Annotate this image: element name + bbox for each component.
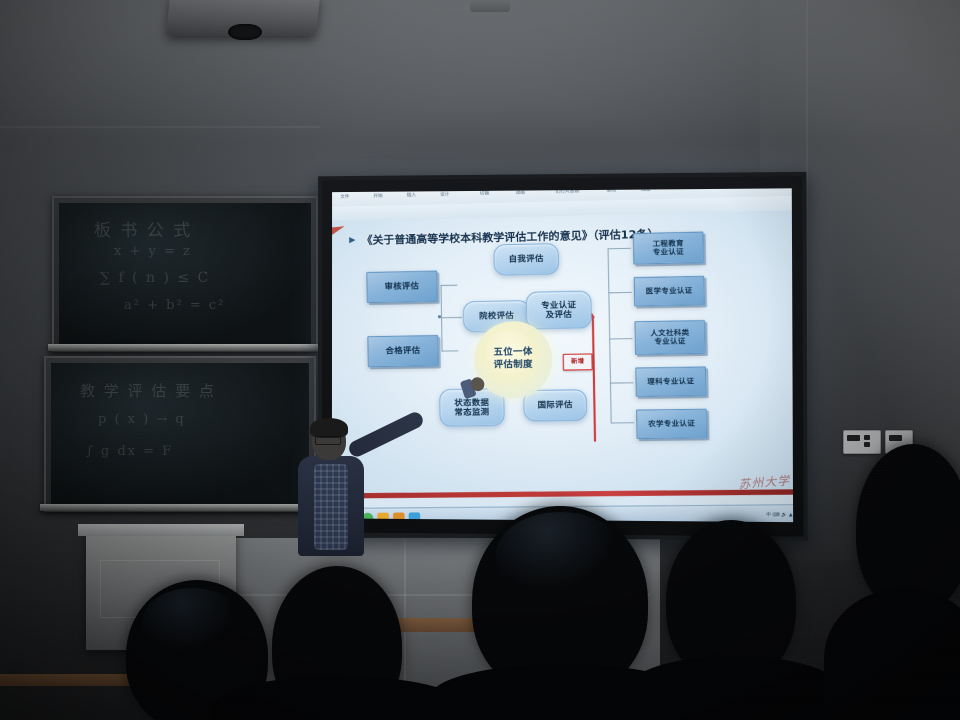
emphasis-line	[592, 318, 596, 442]
connector-line	[441, 317, 462, 319]
decor-triangle-icon	[332, 226, 345, 237]
blackboard-ledge	[48, 344, 320, 351]
node-label: 自我评估	[509, 254, 544, 264]
cert-box-like[interactable]: 理科专业认证	[635, 366, 706, 397]
panel-switch[interactable]	[847, 435, 860, 441]
ribbon-tab[interactable]: 审阅	[606, 188, 616, 193]
node-label: 国际评估	[537, 400, 572, 410]
head-highlight	[496, 512, 624, 598]
connector-line	[610, 382, 633, 384]
cert-label-line1: 理科专业认证	[647, 377, 694, 386]
node-hege-pinggu[interactable]: 合格评估	[367, 335, 438, 367]
wall-control-panel[interactable]	[843, 430, 881, 454]
cert-box-nongxue[interactable]: 农学专业认证	[636, 409, 707, 439]
audience-head	[856, 444, 960, 612]
ribbon-tab[interactable]: 开始	[373, 193, 382, 199]
node-label-line2: 常态监测	[454, 407, 489, 417]
node-label: 审核评估	[385, 282, 420, 292]
ribbon-tab[interactable]: 切换	[480, 190, 490, 196]
node-ziwo-pinggu[interactable]: 自我评估	[493, 243, 559, 276]
node-label-line1: 状态数据	[454, 398, 489, 408]
ribbon-tab[interactable]: 动画	[516, 189, 526, 195]
cert-label-line2: 专业认证	[654, 337, 685, 346]
audience-shoulders	[628, 656, 840, 720]
connector-line	[609, 338, 632, 340]
wall-seam	[0, 126, 320, 128]
ribbon-tab[interactable]: 插入	[407, 192, 416, 198]
blackboard-lower: 教 学 评 估 要 点 p ( x ) → q ∫ g dx = F	[44, 356, 316, 512]
cert-label-line1: 医学专业认证	[646, 286, 693, 295]
presenter	[288, 414, 458, 564]
node-zhuanye-renzheng[interactable]: 专业认证 及评估	[526, 291, 592, 330]
ribbon-tab[interactable]: 幻灯片放映	[556, 188, 580, 195]
panel-switch[interactable]	[889, 435, 902, 441]
new-badge-label: 新增	[571, 358, 585, 365]
connector-line	[608, 248, 612, 422]
presenter-raised-arm	[346, 410, 425, 459]
cert-box-renwenshekelei[interactable]: 人文社科类 专业认证	[634, 320, 705, 355]
system-tray[interactable]: 中 ⌨ 🔊 ▲ 16:42	[766, 512, 793, 519]
lectern-top	[78, 524, 244, 536]
ceiling-vent	[470, 0, 510, 12]
blackboard-surface	[51, 363, 309, 505]
cert-label-line2: 专业认证	[653, 248, 684, 257]
new-badge[interactable]: 新增	[563, 353, 593, 370]
ribbon-tab[interactable]: 文件	[340, 194, 349, 200]
connector-line	[608, 248, 631, 250]
ribbon-tab[interactable]: 设计	[440, 191, 450, 197]
blackboard-ledge	[40, 504, 316, 511]
bullet-arrow-icon	[349, 237, 355, 243]
panel-switch[interactable]	[864, 435, 870, 440]
connector-line	[442, 350, 459, 352]
node-guoji-pinggu[interactable]: 国际评估	[523, 389, 587, 421]
presenter-hair	[310, 418, 348, 438]
cert-label-line1: 农学专业认证	[648, 419, 695, 428]
blackboard-upper: 板 书 公 式 x + y = z ∑ f ( n ) ≤ C a² + b² …	[52, 196, 318, 352]
connector-line	[440, 285, 457, 287]
node-shenhe-pinggu[interactable]: 审核评估	[366, 271, 437, 303]
panel-switch[interactable]	[864, 442, 870, 447]
cert-box-gongcheng[interactable]: 工程教育 专业认证	[633, 232, 704, 265]
ribbon-tab[interactable]: 视图	[640, 188, 650, 193]
cert-box-yixue[interactable]: 医学专业认证	[634, 276, 705, 307]
presenter-plaid-shirt	[314, 464, 348, 550]
projector-lens-icon	[228, 24, 262, 40]
head-highlight	[142, 588, 242, 658]
node-label: 合格评估	[386, 346, 421, 356]
node-center-wuweiyiti[interactable]: 五位一体 评估制度	[474, 321, 553, 400]
connector-line	[608, 292, 631, 294]
slide-title: 《关于普通高等学校本科教学评估工作的意见》（评估12条）	[362, 223, 786, 248]
connector-line	[611, 422, 634, 424]
blackboard-surface	[59, 203, 311, 345]
center-label-line1: 五位一体	[493, 347, 532, 360]
lecture-hall-photo: 板 书 公 式 x + y = z ∑ f ( n ) ≤ C a² + b² …	[0, 0, 960, 720]
center-label-line2: 评估制度	[494, 360, 533, 373]
glasses-icon	[315, 436, 341, 445]
connector-dot	[438, 315, 441, 318]
node-label: 院校评估	[479, 311, 514, 321]
node-label-line2: 及评估	[546, 310, 573, 320]
